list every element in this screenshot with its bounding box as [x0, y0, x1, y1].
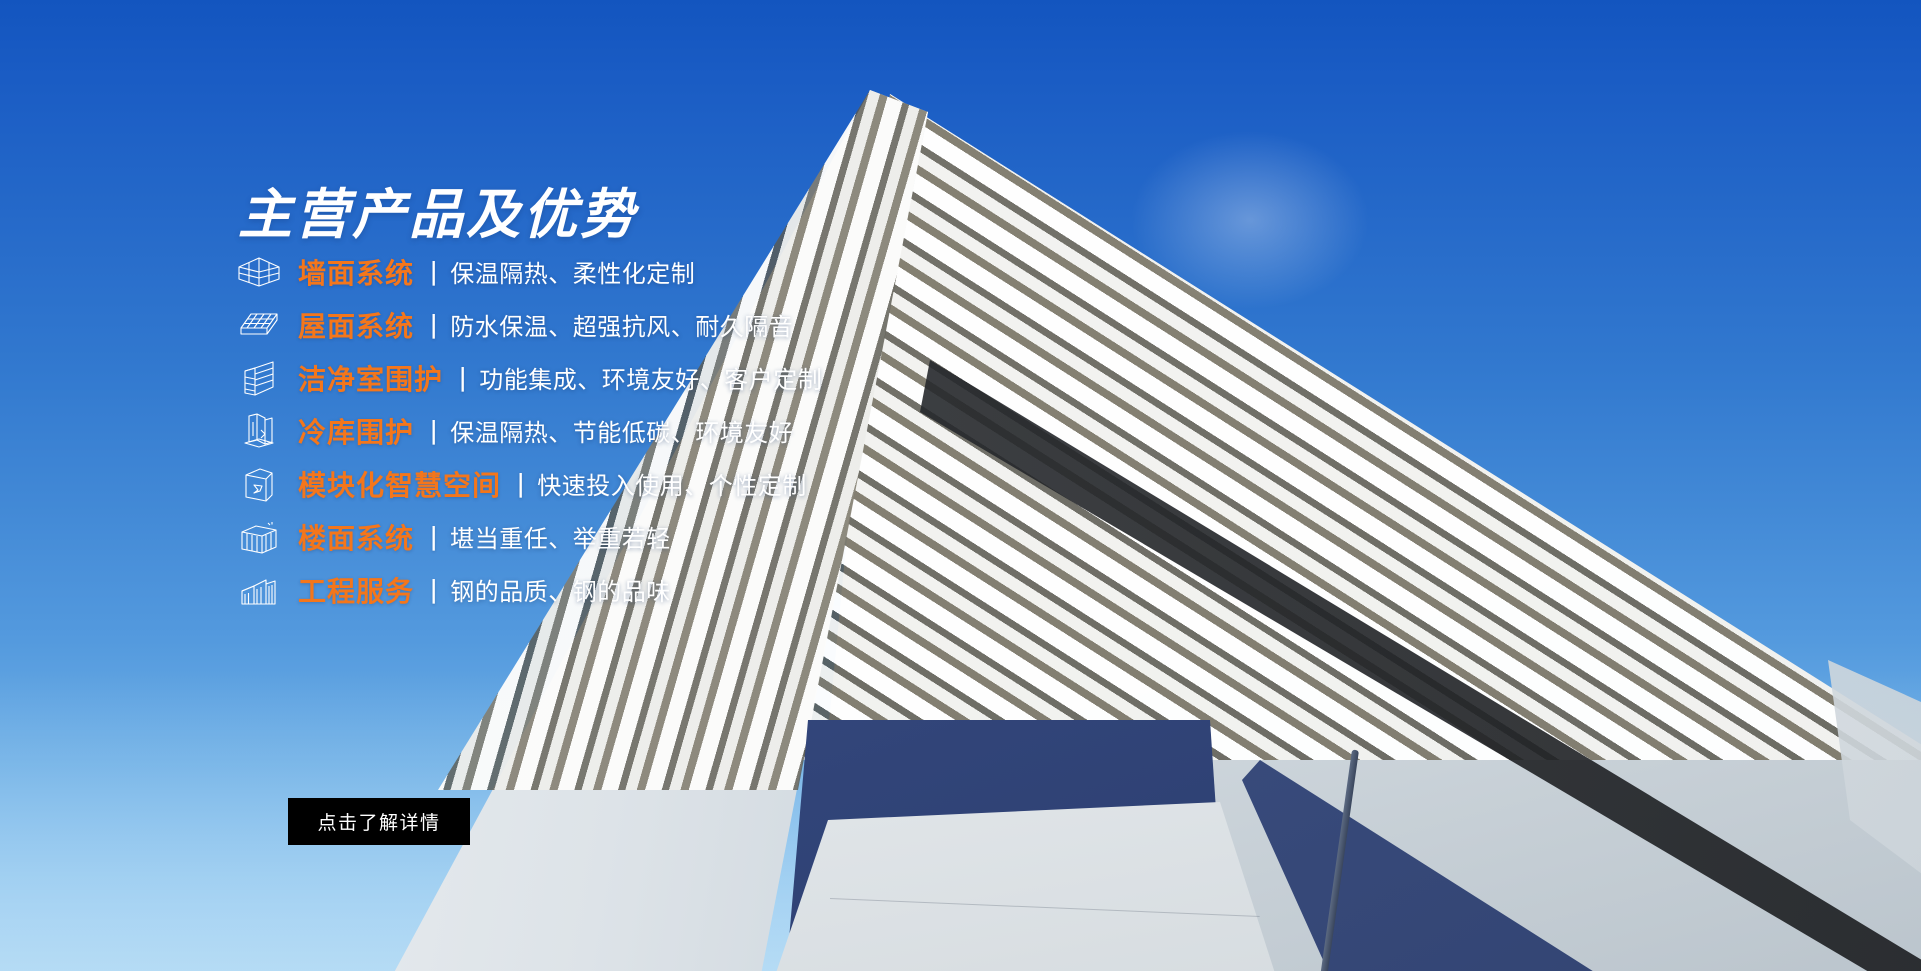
list-item[interactable]: 洁净室围护 | 功能集成、环境友好、客户定制 [232, 351, 1092, 404]
promo-banner: 主营产品及优势 墙面系统 | 保温隔热、柔性化定制 [0, 0, 1921, 971]
product-name: 模块化智慧空间 [298, 464, 501, 504]
product-name: 冷库围护 [298, 411, 414, 451]
product-name: 楼面系统 [298, 517, 414, 557]
product-desc: 钢的品质、钢的品味 [450, 572, 671, 607]
product-name: 屋面系统 [298, 305, 414, 345]
floor-deck-icon [232, 515, 286, 559]
list-item[interactable]: 工程服务 | 钢的品质、钢的品味 [232, 563, 1092, 616]
roof-panel-icon [232, 303, 286, 347]
separator: | [431, 574, 436, 605]
product-desc: 保温隔热、柔性化定制 [450, 254, 695, 289]
product-desc: 保温隔热、节能低碳、环境友好 [450, 413, 793, 448]
cold-storage-icon [232, 409, 286, 453]
separator: | [431, 415, 436, 446]
separator: | [518, 468, 523, 499]
separator: | [460, 362, 465, 393]
modular-cube-icon [232, 462, 286, 506]
product-list: 墙面系统 | 保温隔热、柔性化定制 [232, 245, 1092, 616]
banner-content: 主营产品及优势 墙面系统 | 保温隔热、柔性化定制 [232, 0, 1092, 971]
product-name: 工程服务 [298, 570, 414, 610]
list-item[interactable]: 墙面系统 | 保温隔热、柔性化定制 [232, 245, 1092, 298]
learn-more-button[interactable]: 点击了解详情 [288, 798, 470, 845]
list-item[interactable]: 楼面系统 | 堪当重任、举重若轻 [232, 510, 1092, 563]
list-item[interactable]: 模块化智慧空间 | 快速投入使用、个性定制 [232, 457, 1092, 510]
list-item[interactable]: 冷库围护 | 保温隔热、节能低碳、环境友好 [232, 404, 1092, 457]
product-name: 墙面系统 [298, 252, 414, 292]
separator: | [431, 256, 436, 287]
wall-panel-icon [232, 250, 286, 294]
building-downpipe [1320, 750, 1359, 971]
product-desc: 快速投入使用、个性定制 [537, 466, 807, 501]
product-desc: 防水保温、超强抗风、耐久隔音 [450, 307, 793, 342]
product-desc: 功能集成、环境友好、客户定制 [479, 360, 822, 395]
list-item[interactable]: 屋面系统 | 防水保温、超强抗风、耐久隔音 [232, 298, 1092, 351]
building-apex-glow [1130, 130, 1370, 310]
engineering-service-icon [232, 568, 286, 612]
separator: | [431, 521, 436, 552]
separator: | [431, 309, 436, 340]
product-desc: 堪当重任、举重若轻 [450, 519, 671, 554]
page-title: 主营产品及优势 [238, 170, 637, 249]
cleanroom-building-icon [232, 356, 286, 400]
product-name: 洁净室围护 [298, 358, 443, 398]
